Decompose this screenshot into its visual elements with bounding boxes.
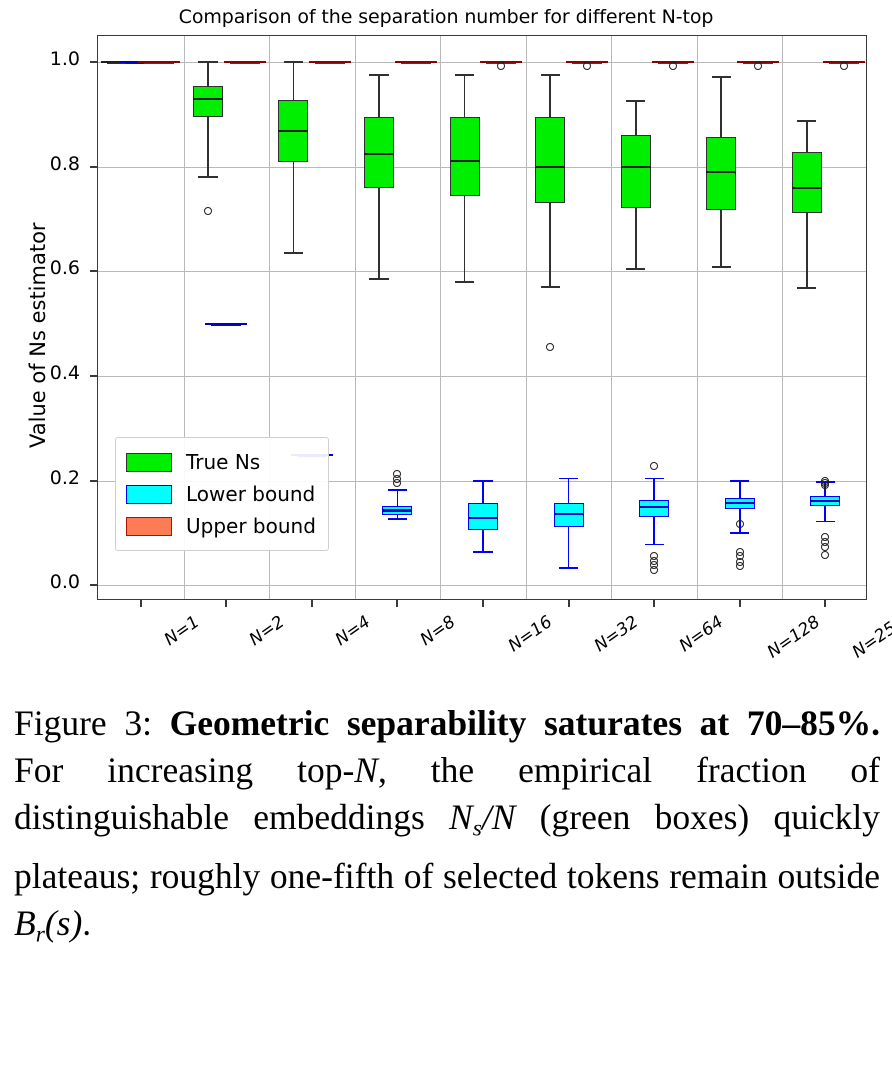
x-tick-mark <box>396 600 398 607</box>
boxplot-cap-upper <box>369 74 388 76</box>
x-tick-mark <box>568 600 570 607</box>
x-tick-label: N=4 <box>332 612 374 650</box>
boxplot-whisker-upper <box>568 479 570 503</box>
boxplot-median <box>193 98 223 100</box>
y-tick-mark <box>90 166 97 168</box>
boxplot-median <box>792 187 822 189</box>
caption-body-4: . <box>82 903 91 943</box>
boxplot-cap-upper <box>730 480 749 482</box>
boxplot-whisker-upper <box>464 75 466 117</box>
boxplot-median <box>138 61 180 63</box>
boxplot-median <box>535 166 565 168</box>
chart-title: Comparison of the separation number for … <box>0 6 892 28</box>
boxplot-whisker-upper <box>739 481 741 499</box>
boxplot-cap-lower <box>797 287 816 289</box>
boxplot-box <box>535 117 565 203</box>
boxplot-outlier <box>583 62 591 70</box>
y-tick-label: 0.6 <box>0 257 80 279</box>
boxplot-cap-lower <box>284 252 303 254</box>
boxplot-median <box>364 153 394 155</box>
y-tick-label: 0.4 <box>0 362 80 384</box>
boxplot-cap-lower <box>369 278 388 280</box>
boxplot-whisker-lower <box>207 117 209 177</box>
boxplot-whisker-lower <box>806 213 808 288</box>
x-tick-mark <box>311 600 313 607</box>
boxplot-box <box>621 135 651 207</box>
boxplot-outlier <box>736 520 744 528</box>
boxplot-median <box>382 509 412 511</box>
caption-body-1: For increasing top- <box>14 750 354 790</box>
figure-page: Comparison of the separation number for … <box>0 0 892 1084</box>
boxplot-median <box>621 166 651 168</box>
x-tick-mark <box>653 600 655 607</box>
boxplot-cap-upper <box>473 480 492 482</box>
boxplot-whisker-lower <box>293 162 295 254</box>
y-tick-mark <box>90 61 97 63</box>
boxplot-median <box>725 502 755 504</box>
boxplot-box <box>193 86 223 117</box>
boxplot-box <box>450 117 480 195</box>
boxplot-cap-upper <box>541 74 560 76</box>
boxplot-cap-lower <box>388 518 407 520</box>
caption-math-ns-tail: /N <box>482 797 516 837</box>
x-tick-mark <box>739 600 741 607</box>
caption-math-ns-subscript: s <box>473 816 482 842</box>
boxplot-outlier <box>821 543 829 551</box>
boxplot-cap-upper <box>559 478 578 480</box>
boxplot-median <box>468 517 498 519</box>
boxplot-whisker-lower <box>549 203 551 287</box>
x-tick-label: N=64 <box>676 612 727 656</box>
caption-bold-lead: Geometric separability saturates at 70–8… <box>170 703 880 743</box>
boxplot-cap-lower <box>626 268 645 270</box>
x-tick-mark <box>482 600 484 607</box>
legend-item-lower-bound: Lower bound <box>126 478 316 510</box>
x-tick-label: N=256 <box>849 612 892 662</box>
x-tick-label: N=1 <box>161 612 203 650</box>
x-tick-mark <box>140 600 142 607</box>
figure-caption: Figure 3: Geometric separability saturat… <box>14 700 880 958</box>
boxplot-figure: Comparison of the separation number for … <box>0 0 892 680</box>
y-tick-mark <box>90 375 97 377</box>
legend-label-lower-bound: Lower bound <box>186 482 315 506</box>
boxplot-cap-upper <box>388 489 407 491</box>
legend-label-true-ns: True Ns <box>186 450 260 474</box>
boxplot-median <box>205 323 247 325</box>
boxplot-median <box>395 61 437 63</box>
caption-math-ns: N <box>449 797 473 837</box>
legend-swatch-upper-bound <box>126 517 172 536</box>
boxplot-cap-lower <box>712 266 731 268</box>
boxplot-whisker-upper <box>720 77 722 138</box>
x-tick-label: N=32 <box>590 612 641 656</box>
boxplot-cap-lower <box>730 532 749 534</box>
boxplot-whisker-upper <box>293 62 295 100</box>
legend-swatch-true-ns <box>126 453 172 472</box>
boxplot-outlier <box>204 207 212 215</box>
boxplot-whisker-lower <box>378 188 380 280</box>
boxplot-median <box>554 513 584 515</box>
y-tick-label: 0.8 <box>0 153 80 175</box>
plot-area: True Ns Lower bound Upper bound <box>97 35 867 600</box>
boxplot-whisker-upper <box>635 101 637 135</box>
boxplot-whisker-upper <box>397 490 399 506</box>
boxplot-cap-lower <box>198 176 217 178</box>
boxplot-outlier <box>546 343 554 351</box>
boxplot-median <box>278 130 308 132</box>
boxplot-whisker-lower <box>653 517 655 545</box>
boxplot-median <box>224 61 266 63</box>
chart-legend: True Ns Lower bound Upper bound <box>115 437 329 551</box>
legend-item-upper-bound: Upper bound <box>126 510 316 542</box>
boxplot-whisker-lower <box>482 530 484 552</box>
boxplot-cap-upper <box>645 478 664 480</box>
caption-math-br: B <box>14 903 36 943</box>
boxplot-cap-upper <box>455 74 474 76</box>
y-tick-mark <box>90 584 97 586</box>
boxplot-outlier <box>650 462 658 470</box>
boxplot-outlier <box>497 62 505 70</box>
boxplot-outlier <box>821 481 829 489</box>
boxplot-cap-upper <box>198 61 217 63</box>
boxplot-whisker-upper <box>207 62 209 86</box>
boxplot-whisker-upper <box>806 121 808 152</box>
boxplot-whisker-upper <box>549 75 551 117</box>
boxplot-whisker-upper <box>653 479 655 500</box>
boxplot-cap-lower <box>816 521 835 523</box>
boxplot-outlier <box>821 551 829 559</box>
boxplot-whisker-lower <box>720 210 722 268</box>
y-tick-mark <box>90 270 97 272</box>
x-tick-mark <box>225 600 227 607</box>
caption-figure-number: Figure 3: <box>14 703 152 743</box>
boxplot-box <box>706 137 736 209</box>
boxplot-median <box>810 500 840 502</box>
boxplot-whisker-upper <box>378 75 380 117</box>
boxplot-median <box>639 506 669 508</box>
boxplot-cap-lower <box>473 551 492 553</box>
legend-label-upper-bound: Upper bound <box>186 514 316 538</box>
boxplot-cap-upper <box>797 120 816 122</box>
y-tick-label: 0.2 <box>0 467 80 489</box>
x-tick-label: N=128 <box>763 612 823 662</box>
boxplot-outlier <box>754 62 762 70</box>
boxplot-median <box>706 171 736 173</box>
y-tick-label: 0.0 <box>0 571 80 593</box>
boxplot-whisker-lower <box>824 506 826 522</box>
boxplot-cap-upper <box>712 76 731 78</box>
boxplot-cap-upper <box>284 61 303 63</box>
x-tick-label: N=8 <box>417 612 459 650</box>
boxplot-cap-lower <box>541 286 560 288</box>
boxplot-cap-lower <box>455 281 474 283</box>
boxplot-cap-upper <box>626 100 645 102</box>
boxplot-whisker-lower <box>464 196 466 282</box>
boxplot-cap-lower <box>645 544 664 546</box>
y-tick-mark <box>90 480 97 482</box>
x-tick-label: N=16 <box>505 612 556 656</box>
boxplot-cap-lower <box>559 567 578 569</box>
boxplot-whisker-lower <box>635 208 637 269</box>
y-tick-label: 1.0 <box>0 48 80 70</box>
boxplot-median <box>450 160 480 162</box>
legend-item-true-ns: True Ns <box>126 446 316 478</box>
caption-math-n: N <box>354 750 378 790</box>
boxplot-outlier <box>736 562 744 570</box>
boxplot-box <box>792 152 822 213</box>
boxplot-outlier <box>669 62 677 70</box>
y-axis-label: Value of Ns estimator <box>26 222 50 448</box>
boxplot-whisker-upper <box>482 481 484 503</box>
x-tick-mark <box>824 600 826 607</box>
legend-swatch-lower-bound <box>126 485 172 504</box>
x-tick-label: N=2 <box>246 612 288 650</box>
caption-math-br-tail: (s) <box>45 903 82 943</box>
caption-math-br-subscript: r <box>36 921 45 947</box>
boxplot-whisker-lower <box>568 527 570 568</box>
boxplot-outlier <box>840 62 848 70</box>
boxplot-median <box>309 61 351 63</box>
boxplot-outlier <box>650 566 658 574</box>
